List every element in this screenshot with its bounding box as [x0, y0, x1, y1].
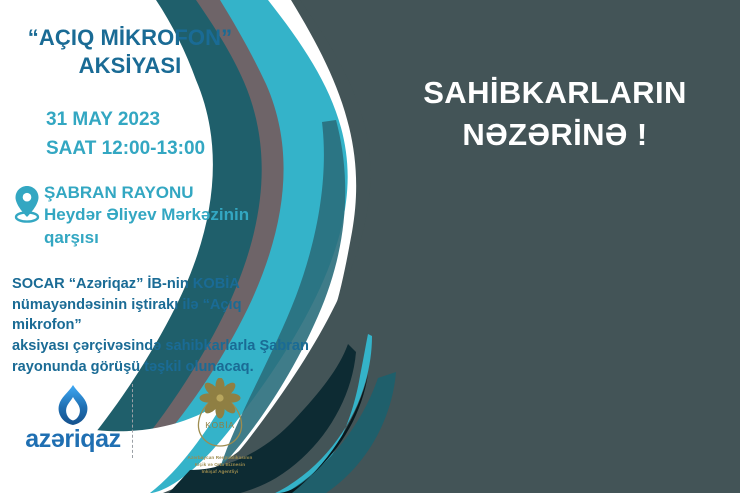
headline: SAHİBKARLARIN NƏZƏRİNƏ !	[390, 72, 720, 155]
venue-line3: qarşısı	[44, 227, 249, 249]
event-venue: ŞABRAN RAYONU Heydər Əliyev Mərkəzinin q…	[12, 182, 292, 249]
kobia-sub-line2: Kiçik və Orta Biznesin	[160, 461, 280, 468]
event-date: 31 MAY 2023	[46, 106, 205, 135]
event-title-line2: AKSİYASI	[0, 52, 260, 80]
description-line3: aksiyası çərçivəsində sahibkarlarla Şabr…	[12, 336, 312, 357]
sponsor-logos: azəriqaz	[0, 378, 300, 488]
event-time: SAAT 12:00-13:00	[46, 135, 205, 164]
description-line4: rayonunda görüşü təşkil olunacaq.	[12, 357, 312, 378]
event-title: “AÇIQ MİKROFON” AKSİYASI	[0, 24, 260, 80]
kobia-sub-line3: İnkişaf Agentliyi	[160, 468, 280, 475]
event-datetime: 31 MAY 2023 SAAT 12:00-13:00	[46, 106, 205, 163]
location-pin-icon	[12, 184, 42, 224]
event-description: SOCAR “Azəriqaz” İB-nin KOBİA nümayəndəs…	[12, 274, 312, 378]
azeriqaz-logo: azəriqaz	[0, 378, 132, 452]
description-line2: nümayəndəsinin iştirakı ilə “Açıq mikrof…	[12, 295, 312, 336]
event-title-line1: “AÇIQ MİKROFON”	[0, 24, 260, 52]
svg-text:KOBİA: KOBİA	[205, 420, 235, 430]
kobia-logo: KOBİA Azərbaycan Respublikasının Kiçik v…	[134, 378, 280, 475]
kobia-subtitle: Azərbaycan Respublikasının Kiçik və Orta…	[160, 454, 280, 475]
venue-address: ŞABRAN RAYONU Heydər Əliyev Mərkəzinin q…	[42, 182, 249, 249]
left-content-column: “AÇIQ MİKROFON” AKSİYASI 31 MAY 2023 SAA…	[0, 0, 310, 493]
azeriqaz-wordmark: azəriqaz	[14, 427, 132, 452]
venue-line1: ŞABRAN RAYONU	[44, 182, 249, 204]
flame-icon	[53, 384, 93, 426]
event-announcement-poster: “AÇIQ MİKROFON” AKSİYASI 31 MAY 2023 SAA…	[0, 0, 740, 493]
kobia-sub-line1: Azərbaycan Respublikasının	[160, 454, 280, 461]
description-line1: SOCAR “Azəriqaz” İB-nin KOBİA	[12, 274, 312, 295]
kobia-flower-icon: KOBİA	[184, 378, 256, 452]
headline-line1: SAHİBKARLARIN	[390, 72, 720, 114]
headline-line2: NƏZƏRİNƏ !	[390, 114, 720, 156]
venue-line2: Heydər Əliyev Mərkəzinin	[44, 204, 249, 226]
